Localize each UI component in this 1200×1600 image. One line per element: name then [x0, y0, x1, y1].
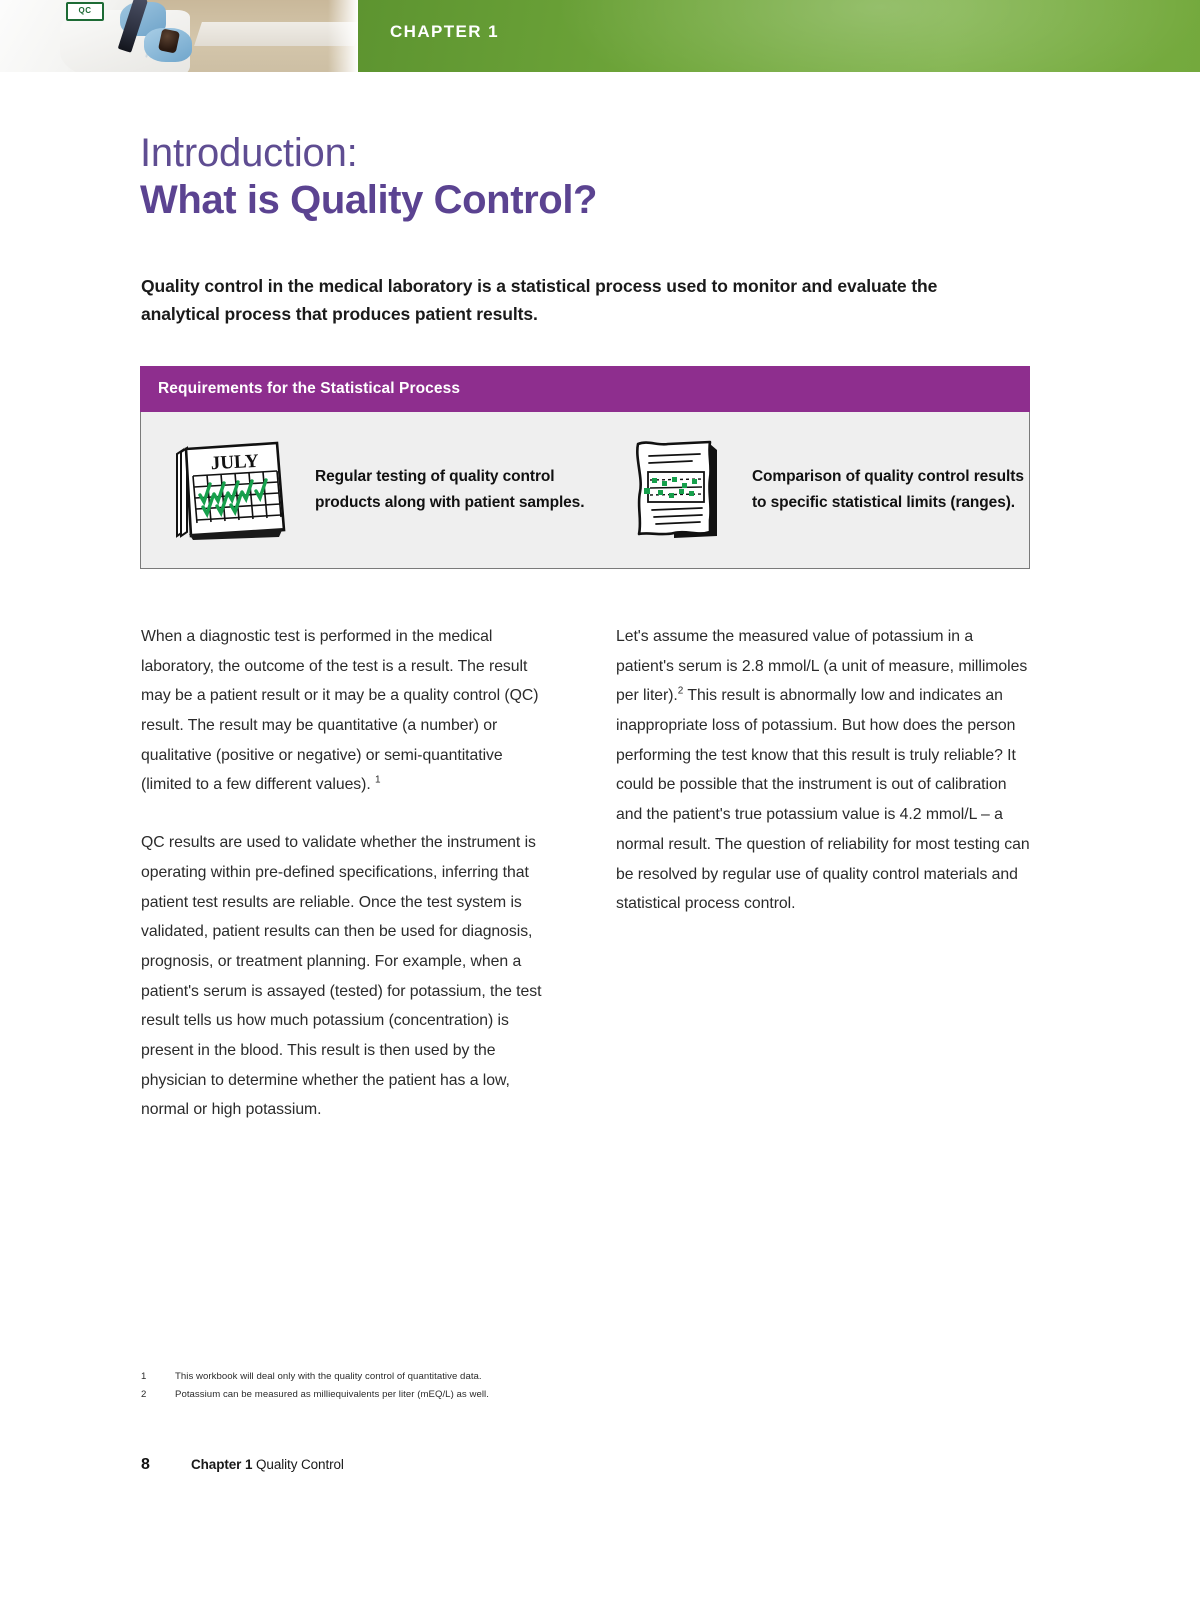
footnotes: 1 This workbook will deal only with the …	[141, 1368, 841, 1404]
footnote-1-text: This workbook will deal only with the qu…	[175, 1368, 482, 1386]
requirements-panel-title: Requirements for the Statistical Process	[158, 380, 460, 398]
page-title: Introduction: What is Quality Control?	[140, 132, 1040, 224]
footer-chapter-title: Quality Control	[256, 1457, 344, 1472]
footer-chapter-number: Chapter 1	[191, 1457, 252, 1472]
page-title-main: What is Quality Control?	[140, 177, 1040, 224]
page-number: 8	[141, 1456, 191, 1474]
body-column-left: When a diagnostic test is performed in t…	[141, 622, 556, 1125]
photo-qc-badge-icon: QC	[66, 2, 104, 21]
chapter-banner: CHAPTER 1	[358, 0, 1200, 72]
requirements-panel-header: Requirements for the Statistical Process	[140, 366, 1030, 412]
body-paragraph-right-1b: This result is abnormally low and indica…	[616, 687, 1030, 912]
requirement-item-comparison: Comparison of quality control results to…	[620, 432, 1029, 549]
footnote-1-number: 1	[141, 1368, 175, 1386]
body-paragraph-left-1: When a diagnostic test is performed in t…	[141, 622, 556, 800]
requirement-item-regular-testing: JULY	[141, 432, 620, 549]
footnote-ref-1: 1	[375, 775, 381, 786]
requirements-panel-body: JULY	[140, 412, 1030, 569]
body-paragraph-left-1-text: When a diagnostic test is performed in t…	[141, 628, 538, 793]
calendar-icon: JULY	[167, 432, 295, 549]
body-columns: When a diagnostic test is performed in t…	[141, 622, 1031, 1125]
page-header-band: QC CHAPTER 1	[0, 0, 1200, 72]
body-paragraph-right-1: Let's assume the measured value of potas…	[616, 622, 1031, 919]
svg-text:JULY: JULY	[210, 450, 259, 473]
footnote-2-text: Potassium can be measured as milliequiva…	[175, 1386, 489, 1404]
footnote-1: 1 This workbook will deal only with the …	[141, 1368, 841, 1386]
chapter-label: CHAPTER 1	[390, 22, 499, 42]
lead-paragraph: Quality control in the medical laborator…	[141, 272, 986, 329]
footnote-2-number: 2	[141, 1386, 175, 1404]
body-paragraph-left-2: QC results are used to validate whether …	[141, 828, 556, 1125]
footer-chapter-label: Chapter 1 Quality Control	[191, 1457, 344, 1472]
lab-technician-photo: QC	[0, 0, 358, 72]
requirements-panel: Requirements for the Statistical Process…	[140, 366, 1030, 569]
requirement-item-text-1: Regular testing of quality control produ…	[315, 464, 620, 516]
page-title-eyebrow: Introduction:	[140, 132, 1040, 175]
photo-edge-fade	[328, 0, 358, 72]
page-footer: 8 Chapter 1 Quality Control	[141, 1456, 344, 1474]
footnote-2: 2 Potassium can be measured as milliequi…	[141, 1386, 841, 1404]
report-chart-icon	[622, 432, 732, 549]
requirement-item-text-2: Comparison of quality control results to…	[752, 464, 1029, 516]
body-column-right: Let's assume the measured value of potas…	[616, 622, 1031, 1125]
